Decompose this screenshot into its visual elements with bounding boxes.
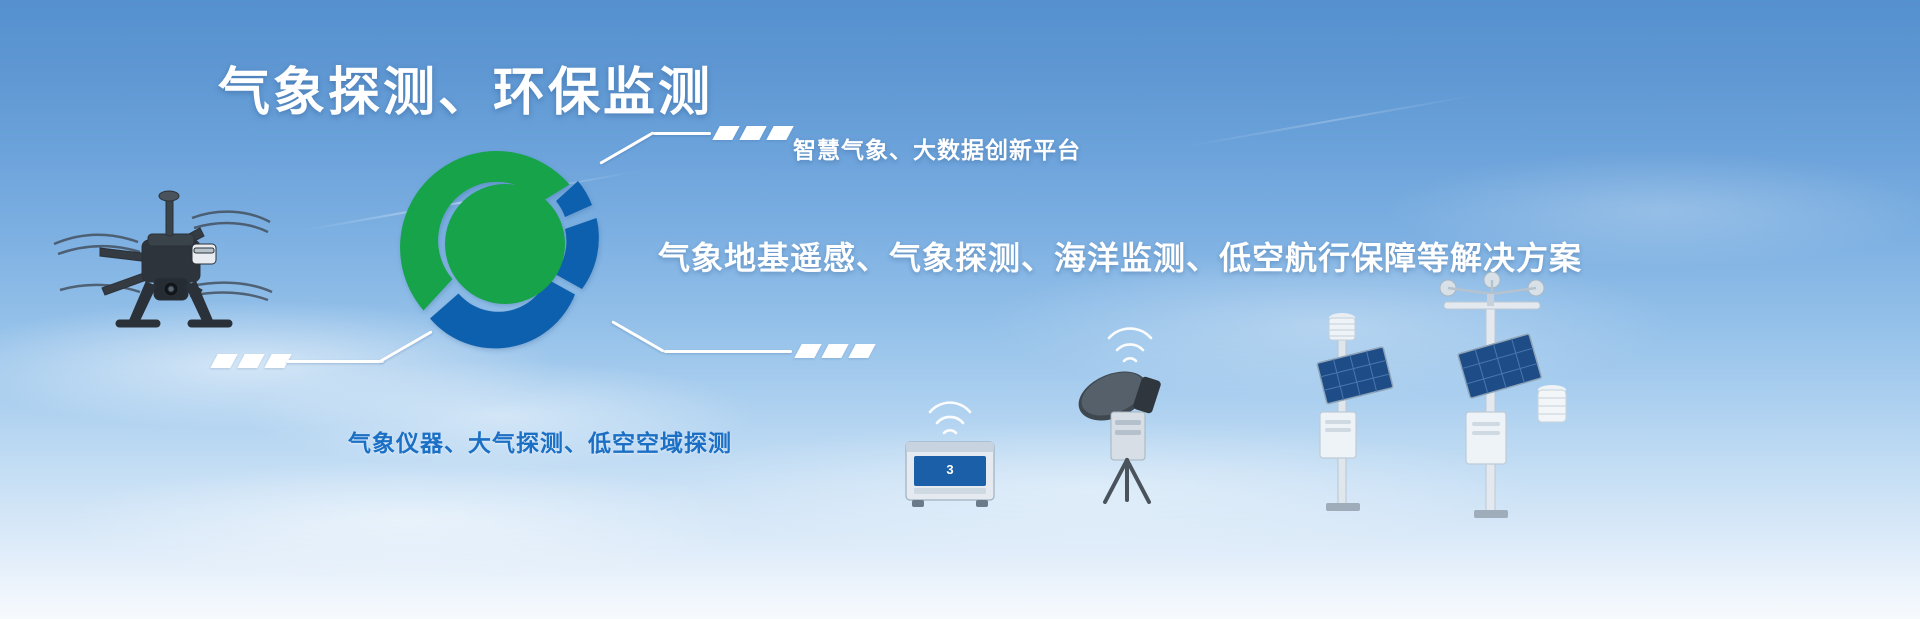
solar-weather-station-2-icon [1400, 272, 1580, 522]
satellite-dish-icon [1065, 320, 1195, 510]
weather-detection-banner: 气象探测、环保监测 [0, 0, 1920, 619]
laser-radar-cabinet-icon: 3 [890, 390, 1010, 510]
dash-mark [264, 354, 291, 368]
drone-icon [42, 158, 282, 338]
dash-mark [237, 354, 264, 368]
svg-text:3: 3 [946, 462, 953, 477]
cloud-streak [60, 460, 760, 580]
page-title: 气象探测、环保监测 [218, 50, 713, 125]
dash-mark [739, 126, 766, 140]
callout-bottom-label: 气象仪器、大气探测、低空空域探测 [348, 424, 732, 458]
dash-mark [766, 126, 793, 140]
solar-weather-station-1-icon [1280, 300, 1410, 515]
dash-mark [712, 126, 739, 140]
dash-mark [210, 354, 237, 368]
callout-connector-bottom-right [612, 316, 862, 376]
ring-logo [389, 128, 621, 360]
dash-mark [821, 344, 848, 358]
dash-mark [794, 344, 821, 358]
dash-mark [848, 344, 875, 358]
callout-top-label: 智慧气象、大数据创新平台 [793, 131, 1081, 165]
ring-inner-disc [445, 184, 565, 304]
callout-connector-top [600, 120, 800, 170]
contrail-streak [1182, 94, 1478, 148]
